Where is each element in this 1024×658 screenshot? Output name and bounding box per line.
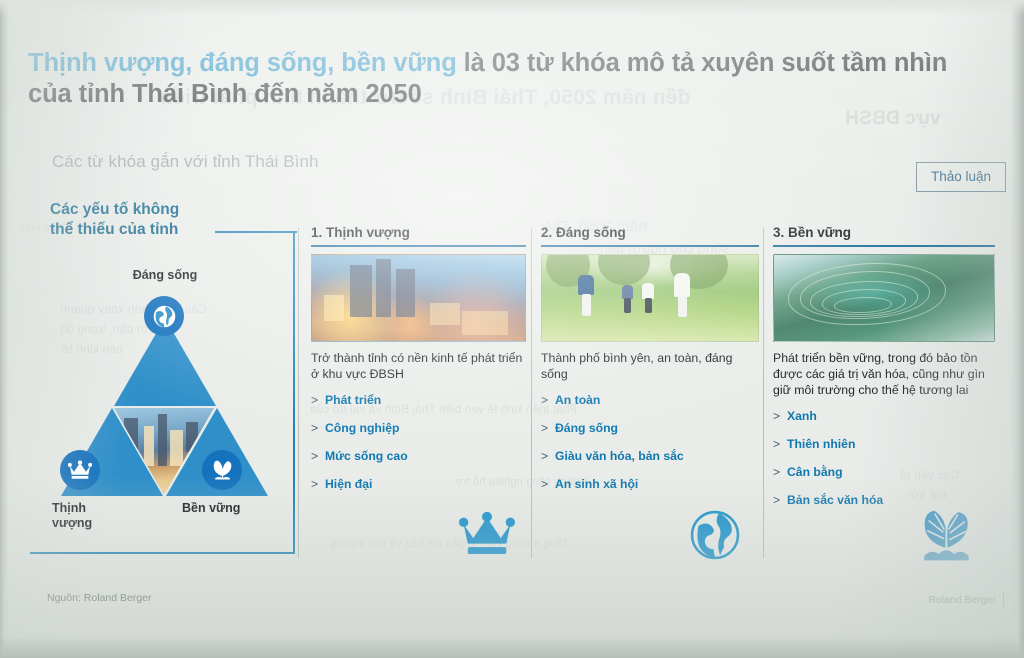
ghost-text: Tăng trưởng kinh tế gắn với bảo vệ môi t…: [330, 538, 569, 550]
crown-icon: [458, 512, 516, 561]
page-title-line-2: của tỉnh Thái Bình đến năm 2050: [28, 79, 1003, 110]
pillars-triangle-diagram: Đáng sống: [52, 268, 277, 538]
list-item[interactable]: Công nghiệp: [311, 421, 526, 436]
terraced-mountain-photo: [773, 254, 995, 342]
slide-page: đến năm 2050, Thái Bình sẽ trở thành tỉn…: [0, 0, 1024, 658]
column-description: Phát triển bền vững, trong đó bảo tồn đư…: [773, 350, 995, 398]
page-title: Thịnh vượng, đáng sống, bền vững là 03 t…: [28, 48, 1003, 110]
brand-divider: [1003, 592, 1004, 607]
column-prosperity: 1. Thịnh vượng Trở thành tỉnh có nền kin…: [311, 225, 526, 505]
globe-icon: [144, 296, 184, 336]
source-note: Nguồn: Roland Berger: [47, 592, 151, 604]
crown-icon: [60, 450, 100, 490]
list-item[interactable]: Mức sống cao: [311, 449, 526, 464]
column-title: 3. Bền vững: [773, 225, 995, 240]
column-divider: [763, 228, 764, 558]
paper-edge-top: [0, 0, 1024, 16]
left-panel-heading-line-1: Các yếu tố không: [50, 200, 179, 220]
list-item[interactable]: Hiện đại: [311, 477, 526, 492]
triangle-label-sustainable: Bền vững: [182, 501, 277, 516]
paper-edge-bottom: [0, 636, 1024, 658]
column-title: 2. Đáng sống: [541, 225, 759, 240]
title-rest: là 03 từ khóa mô tả xuyên suốt tầm nhìn: [457, 49, 948, 77]
list-item[interactable]: Xanh: [773, 409, 995, 424]
column-divider: [531, 228, 532, 558]
title-keywords: Thịnh vượng, đáng sống, bền vững: [28, 49, 457, 77]
triangle-label-prosperous-line-2: vượng: [52, 516, 130, 531]
column-description: Thành phố bình yên, an toàn, đáng sống: [541, 350, 759, 382]
leaf-icon: [202, 450, 242, 490]
list-item[interactable]: Phát triển: [311, 393, 526, 408]
triangle-label-prosperous-line-1: Thịnh: [52, 501, 130, 516]
column-divider: [298, 228, 299, 558]
paper-edge-right: [1010, 0, 1024, 658]
column-liveability: 2. Đáng sống Thành phố bình yên, an toàn…: [541, 225, 759, 505]
page-title-line-1: Thịnh vượng, đáng sống, bền vững là 03 t…: [28, 48, 1003, 79]
column-title: 1. Thịnh vượng: [311, 225, 526, 240]
family-in-park-photo: [541, 254, 759, 342]
column-bullet-list: Xanh Thiên nhiên Cân bằng Bản sắc văn hó…: [773, 409, 995, 508]
list-item[interactable]: An toàn: [541, 393, 759, 408]
city-skyline-photo: [311, 254, 526, 342]
column-bullet-list: An toàn Đáng sống Giàu văn hóa, bản sắc …: [541, 393, 759, 492]
column-rule: [311, 245, 526, 247]
left-panel-heading: Các yếu tố không thể thiếu của tỉnh: [50, 200, 179, 239]
column-sustainability: 3. Bền vững Phát triển bền vững, trong đ…: [773, 225, 995, 521]
discuss-button[interactable]: Thảo luận: [916, 162, 1006, 192]
list-item[interactable]: Giàu văn hóa, bản sắc: [541, 449, 759, 464]
column-rule: [773, 245, 995, 247]
column-description: Trở thành tỉnh có nền kinh tế phát triển…: [311, 350, 526, 382]
list-item[interactable]: Đáng sống: [541, 421, 759, 436]
globe-icon: [688, 508, 742, 567]
triangle-label-prosperous: Thịnh vượng: [52, 501, 130, 531]
brand-note: Roland Berger: [928, 594, 996, 606]
ghost-text: vực ĐBSH: [845, 108, 941, 130]
leaf-icon: [915, 506, 977, 569]
paper-edge-left: [0, 0, 9, 658]
left-panel-heading-line-2: thể thiếu của tỉnh: [50, 220, 179, 240]
list-item[interactable]: Thiên nhiên: [773, 437, 995, 452]
list-item[interactable]: An sinh xã hội: [541, 477, 759, 492]
left-panel-frame-top-rule: [215, 231, 297, 233]
page-subtitle: Các từ khóa gắn với tỉnh Thái Bình: [52, 152, 319, 172]
column-rule: [541, 245, 759, 247]
list-item[interactable]: Cân bằng: [773, 465, 995, 480]
triangle-label-liveable: Đáng sống: [110, 268, 220, 283]
column-bullet-list: Phát triển Công nghiệp Mức sống cao Hiện…: [311, 393, 526, 492]
